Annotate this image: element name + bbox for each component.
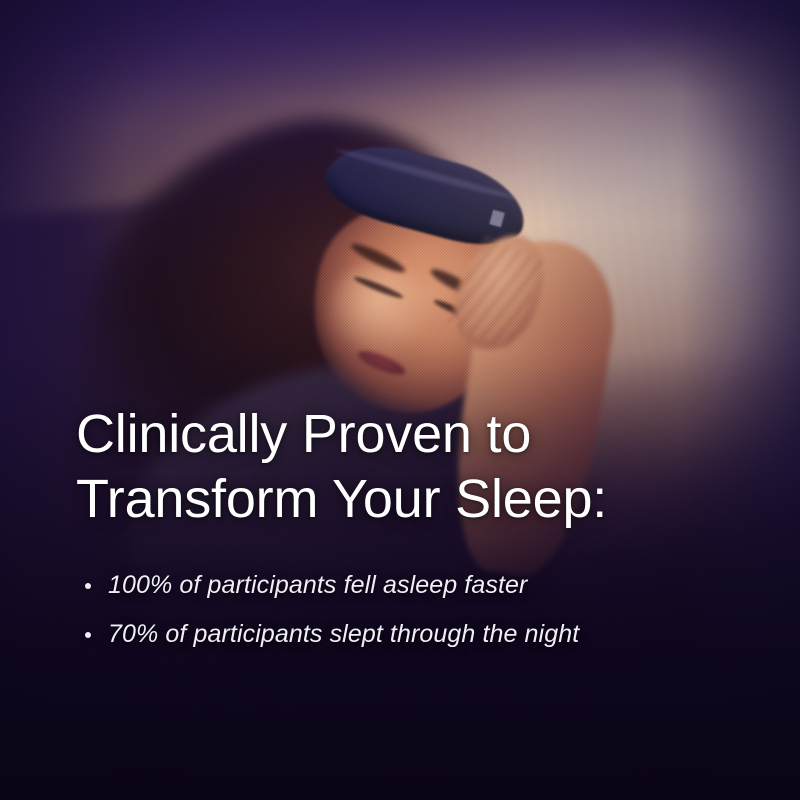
copy-block: Clinically Proven to Transform Your Slee… [76, 402, 744, 649]
benefit-list: 100% of participants fell asleep faster … [76, 570, 744, 649]
headline: Clinically Proven to Transform Your Slee… [76, 402, 744, 532]
bullet-dot-icon [85, 583, 91, 589]
benefit-text: 70% of participants slept through the ni… [108, 620, 579, 648]
list-item: 100% of participants fell asleep faster [76, 570, 744, 600]
benefit-text: 100% of participants fell asleep faster [108, 571, 527, 599]
sleep-ad-creative: Clinically Proven to Transform Your Slee… [0, 0, 800, 800]
bullet-dot-icon [85, 632, 91, 638]
list-item: 70% of participants slept through the ni… [76, 619, 744, 649]
